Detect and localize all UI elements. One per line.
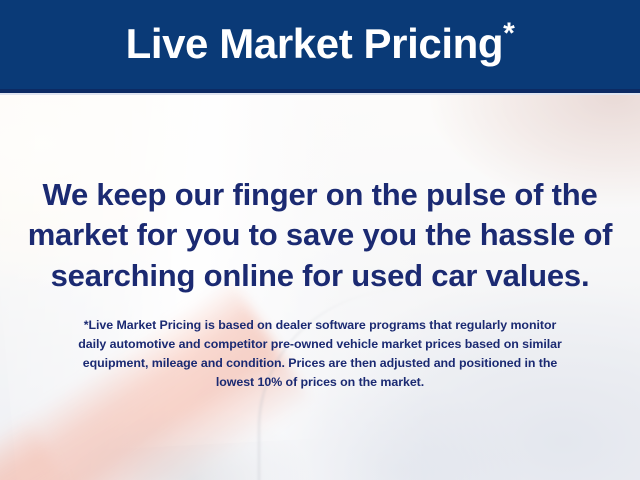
page-title-text: Live Market Pricing xyxy=(126,20,504,67)
disclaimer-line-1: *Live Market Pricing is based on dealer … xyxy=(0,316,640,335)
disclaimer-block: *Live Market Pricing is based on dealer … xyxy=(0,316,640,391)
disclaimer-line-4: lowest 10% of prices on the market. xyxy=(0,373,640,392)
live-market-pricing-slide: Live Market Pricing* We keep our finger … xyxy=(0,0,640,480)
disclaimer-line-3: equipment, mileage and condition. Prices… xyxy=(0,354,640,373)
page-title: Live Market Pricing* xyxy=(126,23,515,67)
headline-line-3: searching online for used car values. xyxy=(0,256,640,296)
header-banner: Live Market Pricing* xyxy=(0,0,640,89)
headline-line-1: We keep our finger on the pulse of the xyxy=(0,175,640,215)
headline-block: We keep our finger on the pulse of the m… xyxy=(0,175,640,296)
headline-line-2: market for you to save you the hassle of xyxy=(0,215,640,255)
page-title-asterisk: * xyxy=(503,17,514,50)
banner-hairline-rule xyxy=(0,93,640,95)
disclaimer-line-2: daily automotive and competitor pre-owne… xyxy=(0,335,640,354)
